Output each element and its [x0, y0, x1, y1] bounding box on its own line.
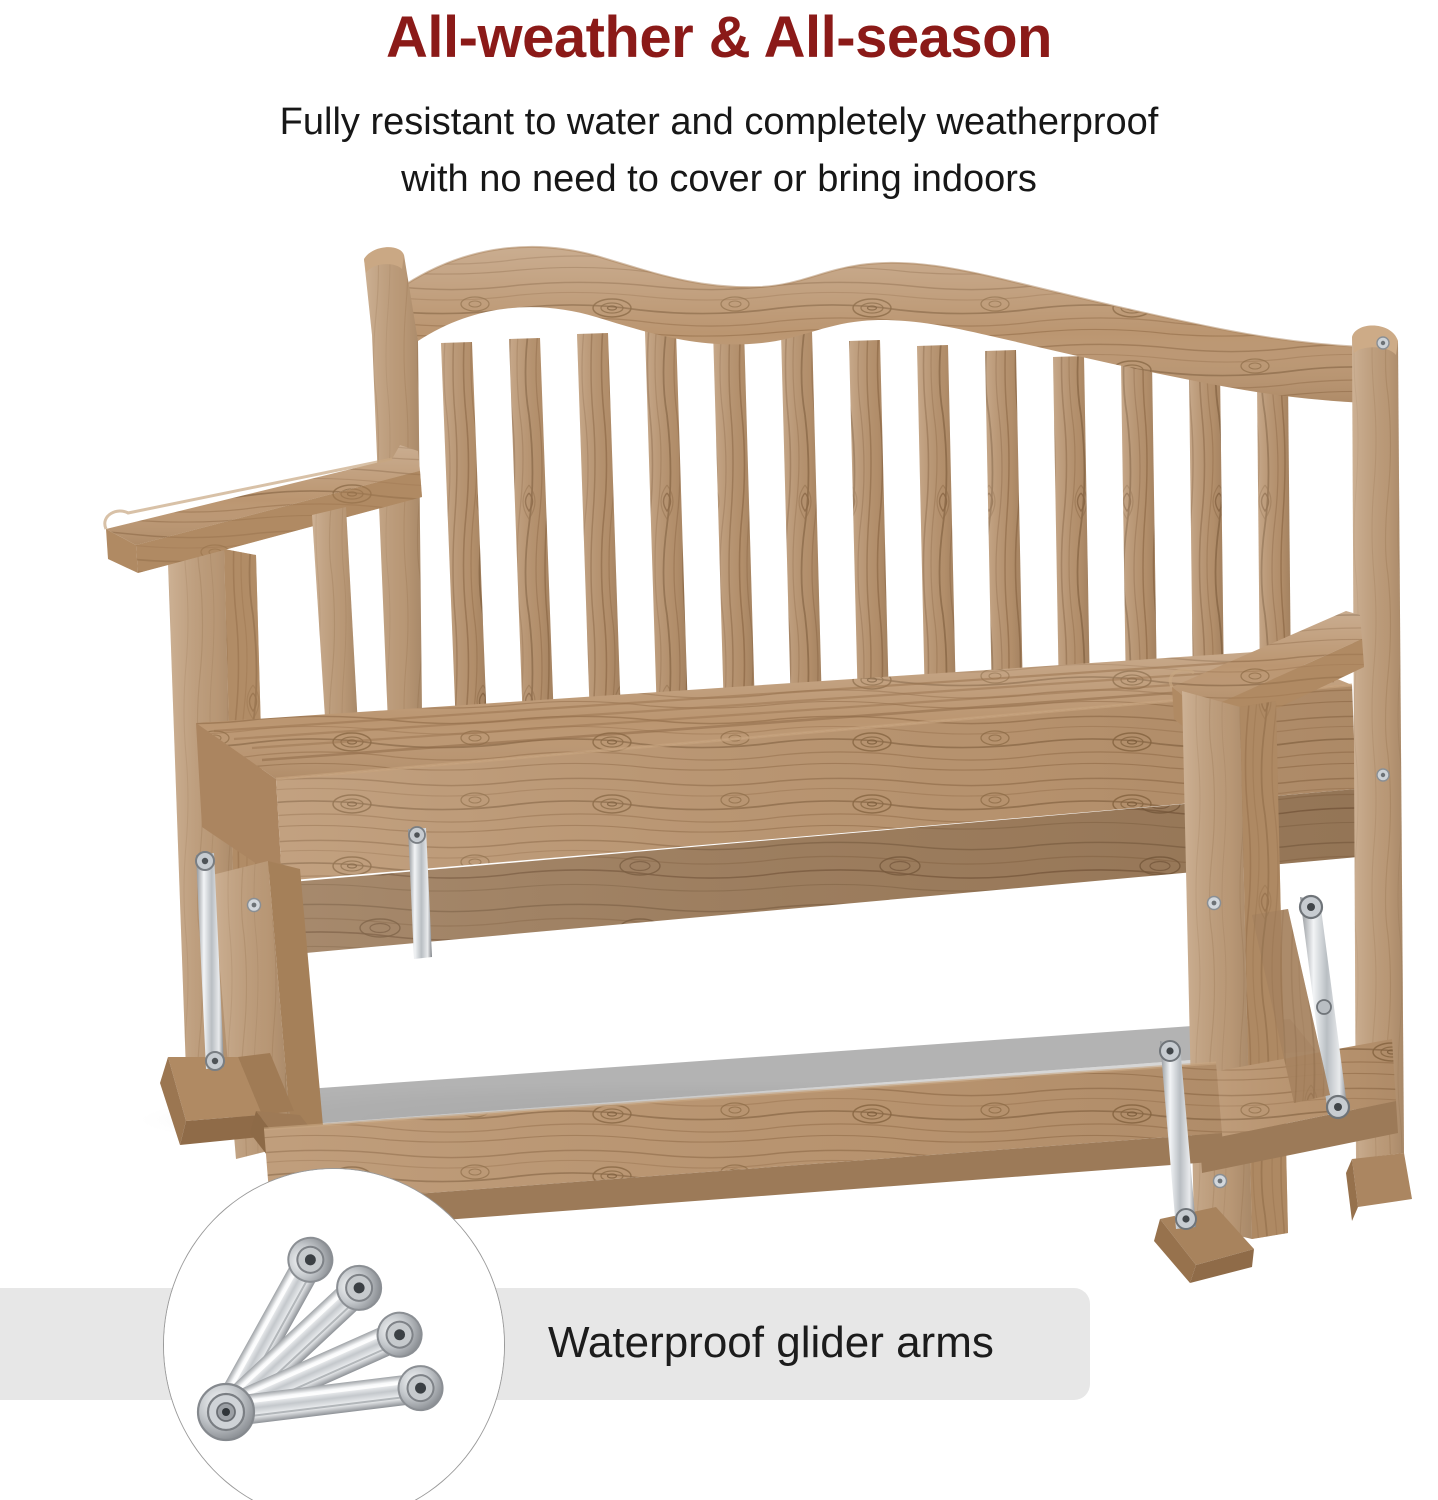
- callout-label: Waterproof glider arms: [548, 1305, 1168, 1381]
- glider-arms-pivot-hub: [198, 1384, 254, 1440]
- backrest-slat: [441, 342, 487, 729]
- left-armrest: [105, 445, 422, 573]
- backrest-slat: [1053, 356, 1090, 699]
- subtitle-line-1: Fully resistant to water and completely …: [0, 98, 1438, 147]
- right-rear-foot: [1346, 1153, 1412, 1221]
- subtitle-line-2: with no need to cover or bring indoors: [0, 155, 1438, 204]
- backrest-slat: [713, 328, 755, 714]
- backrest-slat: [917, 345, 956, 705]
- product-photo-glider-bench: [0, 215, 1438, 1305]
- backrest-slat: [1121, 362, 1157, 696]
- backrest-slat: [577, 333, 621, 721]
- product-marketing-image: All-weather & All-season Fully resistant…: [0, 0, 1438, 1500]
- right-rear-post: [1352, 325, 1404, 1159]
- backrest-slat: [1189, 370, 1224, 693]
- backrest-slat: [849, 340, 889, 708]
- backrest-top-rail: [405, 247, 1368, 403]
- left-arm-support: [312, 507, 358, 733]
- backrest-slat: [781, 331, 822, 711]
- backrest-slat: [509, 338, 554, 725]
- backrest-slat: [645, 330, 688, 717]
- backrest-slat: [985, 350, 1023, 702]
- glider-arms-inset-photo: [163, 1168, 505, 1500]
- page-title: All-weather & All-season: [0, 4, 1438, 71]
